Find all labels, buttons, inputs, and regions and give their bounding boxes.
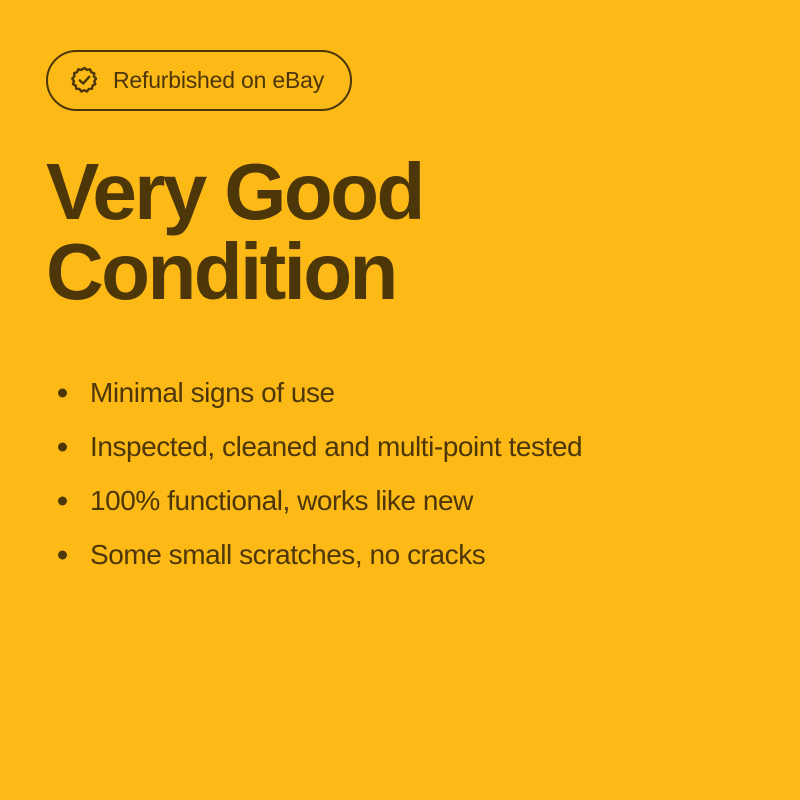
list-item: 100% functional, works like new — [46, 474, 766, 528]
bullet-dot-icon — [58, 443, 67, 452]
list-item-label: Inspected, cleaned and multi-point teste… — [90, 432, 582, 463]
list-item-label: 100% functional, works like new — [90, 486, 473, 517]
bullet-dot-icon — [58, 551, 67, 560]
list-item: Some small scratches, no cracks — [46, 528, 766, 582]
list-item: Minimal signs of use — [46, 366, 766, 420]
bullet-dot-icon — [58, 389, 67, 398]
refurbished-badge: Refurbished on eBay — [46, 50, 352, 111]
page-title-line-2: Condition — [46, 232, 746, 312]
list-item-label: Minimal signs of use — [90, 378, 335, 409]
page-title: Very Good Condition — [46, 152, 746, 312]
condition-feature-list: Minimal signs of use Inspected, cleaned … — [46, 366, 766, 582]
list-item-label: Some small scratches, no cracks — [90, 540, 485, 571]
refurbished-condition-card: Refurbished on eBay Very Good Condition … — [0, 0, 800, 800]
page-title-line-1: Very Good — [46, 152, 746, 232]
bullet-dot-icon — [58, 497, 67, 506]
refurbished-badge-label: Refurbished on eBay — [113, 69, 324, 92]
list-item: Inspected, cleaned and multi-point teste… — [46, 420, 766, 474]
verified-rosette-check-icon — [70, 66, 99, 95]
